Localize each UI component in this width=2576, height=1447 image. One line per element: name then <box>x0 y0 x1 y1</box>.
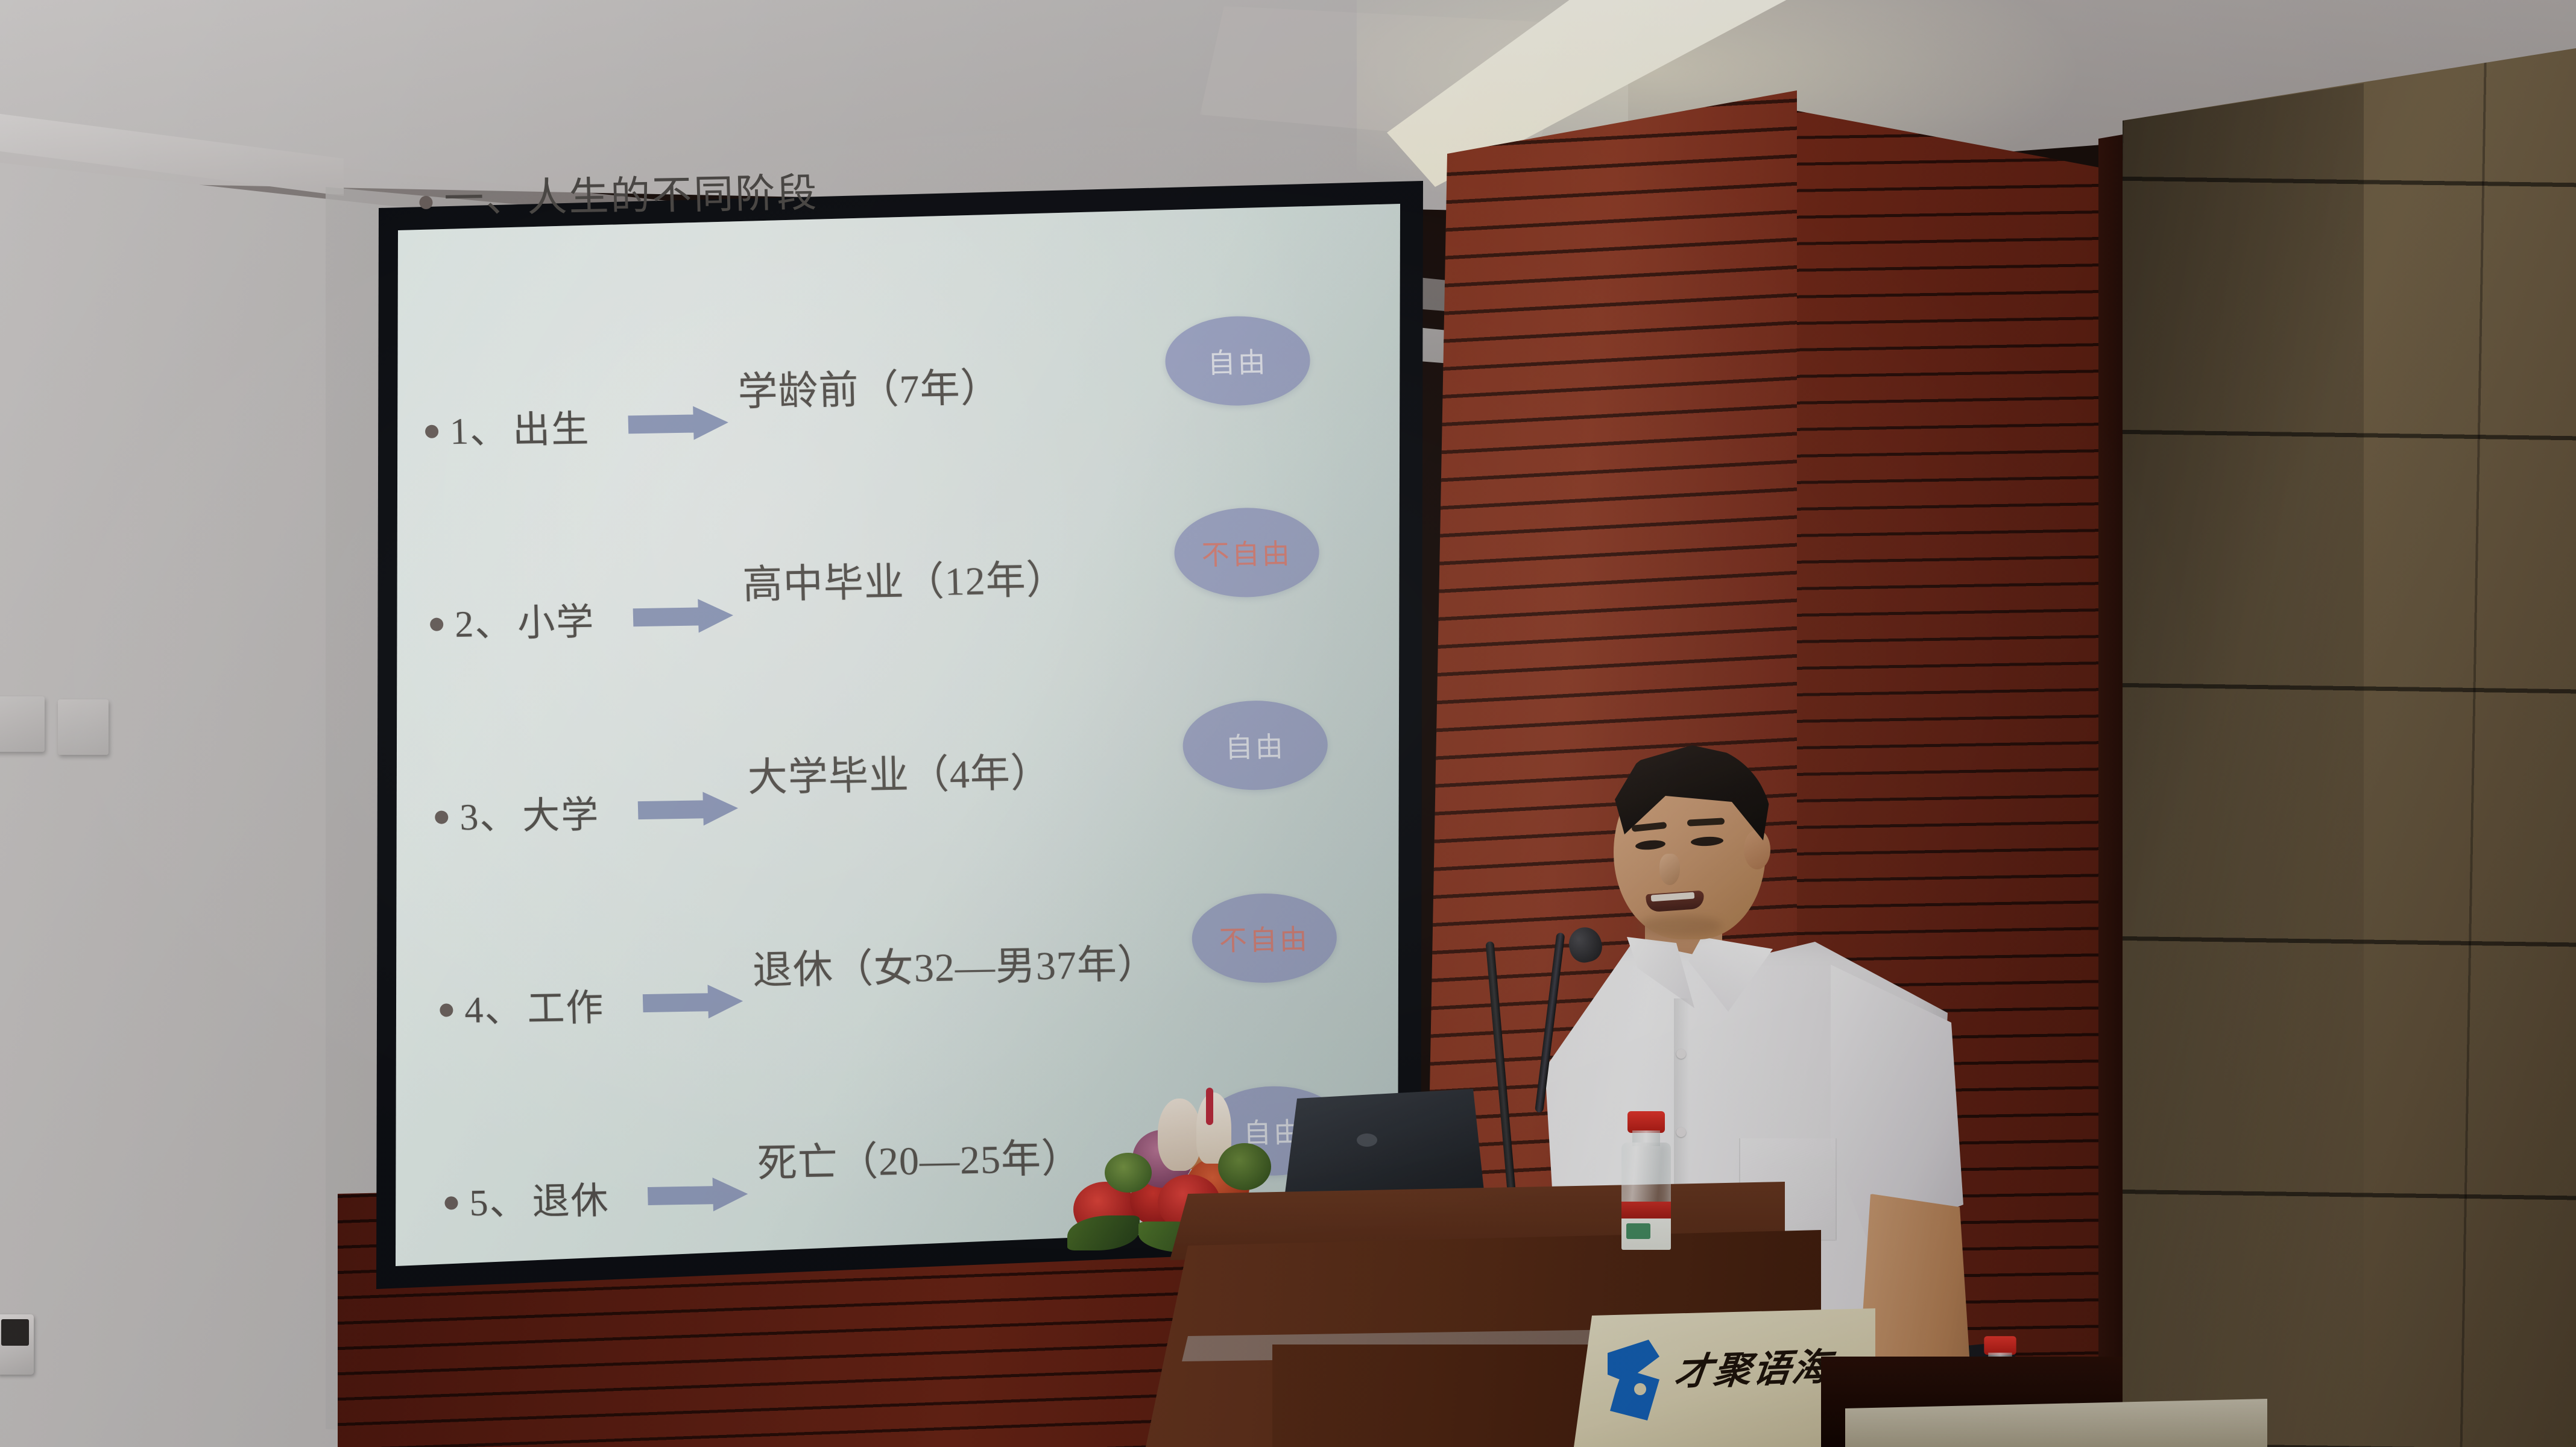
bullet-dot-icon <box>419 196 433 209</box>
slide-row-from: 出生 <box>512 398 590 453</box>
slide-row-from: 退休 <box>531 1170 610 1225</box>
speaker-nose <box>1659 854 1680 885</box>
wave-bird-logo-icon <box>1608 1340 1663 1421</box>
slide-row-from: 大学 <box>522 784 600 839</box>
speaker-ear <box>1744 830 1770 869</box>
bullet-dot-icon <box>430 617 444 631</box>
slide-row-target: 大学毕业（4年） <box>747 740 1051 803</box>
right-arrow-icon <box>633 599 733 634</box>
bullet-dot-icon <box>440 1003 453 1017</box>
slide-row-from: 工作 <box>526 977 605 1032</box>
slide-row-index: 1、 <box>449 400 509 455</box>
bullet-dot-icon <box>425 425 439 438</box>
slide-row-index: 2、 <box>454 593 514 648</box>
bullet-dot-icon <box>444 1196 458 1209</box>
slide-row-target: 学龄前（7年） <box>737 355 1001 417</box>
slide-row-target: 高中毕业（12年） <box>742 547 1067 610</box>
light-switch-plate[interactable] <box>58 699 109 755</box>
slide-row-index: 5、 <box>469 1171 528 1226</box>
shirt-button <box>1676 1049 1686 1059</box>
speaker-chin-shadow <box>1638 915 1722 937</box>
bullet-dot-icon <box>435 810 449 824</box>
laptop-logo <box>1357 1133 1377 1147</box>
slide-row-target: 退休（女32—男37年） <box>752 932 1158 996</box>
lecture-hall-scene: 一、人生的不同阶段 1、 出生 学龄前（7年） 2、 小学 高中毕业（12年） … <box>0 0 2576 1447</box>
slide-title: 一、人生的不同阶段 <box>443 160 819 224</box>
light-switch-plate[interactable] <box>0 696 45 752</box>
shirt-button <box>1676 1127 1686 1137</box>
water-bottle[interactable] <box>1619 1111 1673 1250</box>
right-arrow-icon <box>648 1177 748 1212</box>
slide-row-index: 3、 <box>459 785 519 840</box>
right-arrow-icon <box>642 984 742 1020</box>
slide-row-from: 小学 <box>517 591 595 646</box>
fabric-panel-shadow <box>2123 48 2364 1447</box>
slide-row-index: 4、 <box>464 978 523 1033</box>
slide-row-target: 死亡（20—25年） <box>757 1126 1082 1189</box>
right-arrow-icon <box>628 406 728 441</box>
right-arrow-icon <box>637 791 737 827</box>
wall-outlet[interactable] <box>0 1314 34 1375</box>
